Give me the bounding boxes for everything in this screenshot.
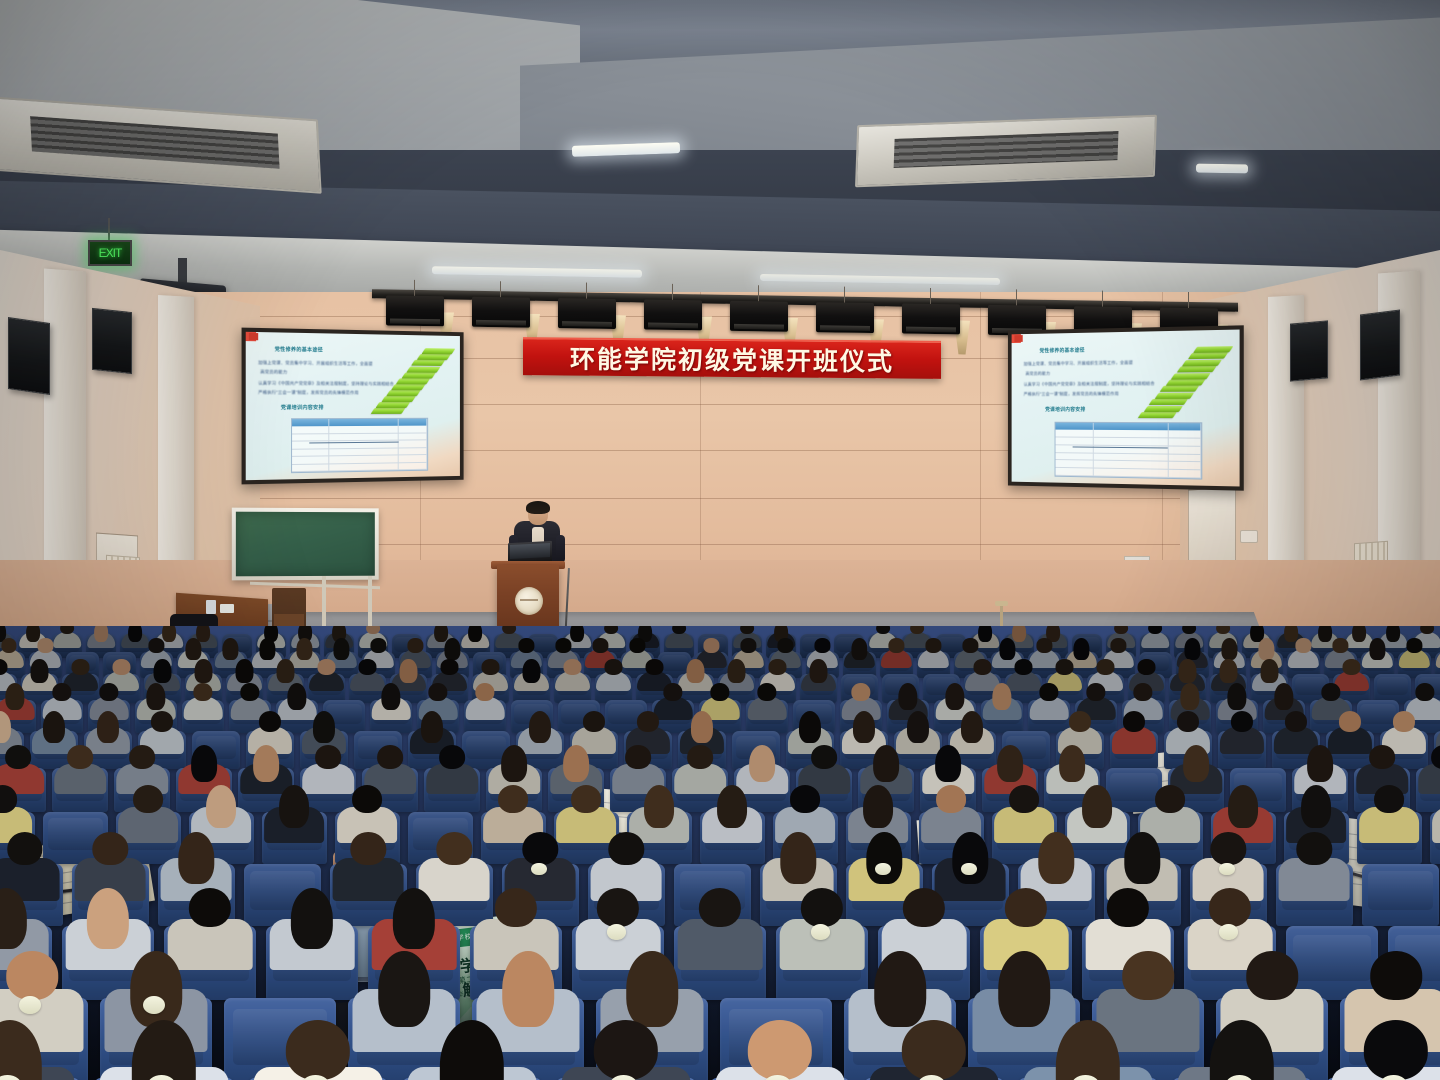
- wall-speaker-1: [8, 317, 50, 395]
- slide-content-right: 党性修养的基本途径 加强上党课、党员集中学习、开展组织生活等工作，全面提 高党员…: [1012, 330, 1240, 487]
- audience-member-head: [189, 888, 231, 928]
- audience-member: [237, 1020, 399, 1080]
- audience-member-head: [132, 1020, 196, 1080]
- audience-member-head: [873, 745, 899, 782]
- audience-member-head: [1182, 626, 1196, 634]
- slide-table: [1055, 422, 1203, 480]
- audience-member-head: [769, 659, 786, 675]
- audience-member-head: [72, 659, 89, 675]
- slide-body-line: 严格执行“三会一课”制度，发挥党员的先锋模范作用: [258, 390, 358, 396]
- hair-scrunchie: [1219, 924, 1238, 939]
- slide-body-line: 高党员的能力: [260, 369, 287, 375]
- audience-member-head: [315, 745, 341, 769]
- audience-member-head: [154, 659, 171, 683]
- audience-member-head: [605, 659, 622, 675]
- audience-member-head: [351, 832, 386, 865]
- audience-member-head: [7, 832, 42, 865]
- audience-member-head: [400, 659, 417, 683]
- audience-member: [668, 745, 733, 789]
- audience-member-head: [1114, 626, 1128, 634]
- slide-body-line: 认真学习《中国共产党党章》及相关法规制度，坚持理论与实践相结合: [1024, 381, 1155, 388]
- slide-body-line: 严格执行“三会一课”制度，发挥党员的先锋模范作用: [1024, 391, 1119, 397]
- audience-member-head: [1216, 626, 1230, 634]
- staircase-step: [1171, 373, 1210, 379]
- staircase-step: [1149, 399, 1188, 405]
- projection-screen-left: 党性修养的基本途径 加强上党课、党员集中学习、开展组织生活等工作，全面提 高党员…: [242, 328, 464, 485]
- slide-heading-2: 党课培训内容安排: [281, 404, 324, 411]
- audience-member: [1270, 832, 1359, 894]
- audience-member: [242, 711, 298, 749]
- audience-member-head: [778, 638, 793, 652]
- audience-member: [592, 659, 635, 688]
- audience-member-head: [1227, 683, 1246, 711]
- audience-member: [134, 711, 190, 749]
- audience-member-head: [852, 638, 867, 660]
- exit-icon: EXIT: [99, 247, 122, 259]
- audience-member-head: [291, 888, 333, 950]
- slide-heading-1: 党性修养的基本途径: [1040, 347, 1085, 355]
- audience-member: [890, 711, 946, 749]
- stage-light: [902, 304, 960, 335]
- audience-member-head: [334, 638, 349, 660]
- auditorium-seat[interactable]: [1362, 864, 1439, 926]
- audience-member-head: [482, 659, 499, 675]
- audience-member-head: [428, 683, 447, 701]
- audience-member-head: [1111, 638, 1126, 652]
- staircase-step: [376, 402, 411, 408]
- audience-member-head: [94, 626, 108, 642]
- stage-light: [816, 302, 874, 333]
- audience-member-head: [594, 1020, 658, 1080]
- audience-member-head: [961, 711, 983, 743]
- audience-member-head: [781, 832, 816, 884]
- audience-member-head: [907, 711, 929, 743]
- audience-member-head: [501, 745, 527, 782]
- audience-member-head: [1056, 1020, 1120, 1080]
- audience-member-head: [1123, 711, 1145, 732]
- slide-table-cell: [329, 463, 398, 472]
- audience-member: [26, 711, 82, 749]
- audience-member: [841, 785, 916, 837]
- audience-member-head: [1369, 745, 1395, 769]
- podium-crest-icon: [515, 587, 543, 615]
- audience-member: [358, 745, 423, 789]
- staircase-graphic: [1140, 338, 1240, 419]
- audience-member-head: [439, 745, 465, 769]
- audience-member-head: [52, 683, 71, 701]
- audience-member: [926, 832, 1015, 894]
- audience-member-head: [1420, 626, 1434, 634]
- audience-member-head: [963, 638, 978, 652]
- staircase-step: [1165, 379, 1204, 385]
- audience-member-head: [445, 638, 460, 660]
- audience-member-head: [287, 683, 306, 711]
- audience-member: [324, 832, 413, 894]
- lecture-hall-photo: EXIT EXIT 党性: [0, 0, 1440, 1080]
- audience-member-head: [564, 659, 581, 675]
- audience-member-head: [1039, 683, 1058, 701]
- audience-member-head: [902, 1020, 966, 1080]
- audience-member-head: [1261, 659, 1278, 683]
- audience-member-head: [811, 745, 837, 769]
- audience-member-head: [1343, 659, 1360, 675]
- audience-member-head: [1037, 638, 1052, 652]
- slide-table-cell: [398, 462, 427, 470]
- staircase-step: [1154, 392, 1193, 398]
- staircase-step: [1138, 412, 1177, 418]
- chalkboard: [232, 508, 379, 581]
- audience-member-head: [1148, 626, 1162, 634]
- staircase-step: [381, 396, 416, 402]
- audience-member: [792, 745, 857, 789]
- audience-member-head: [5, 683, 24, 711]
- staircase-step: [1187, 353, 1227, 360]
- audience-member: [944, 711, 1000, 749]
- audience-member-head: [799, 711, 821, 743]
- staircase-step: [371, 408, 406, 414]
- stage-light: [644, 299, 702, 330]
- staircase-graphic: [373, 340, 460, 414]
- audience-member-head: [1015, 659, 1032, 675]
- audience-member: [1350, 745, 1415, 789]
- audience-member-head: [60, 626, 74, 634]
- audience-member-head: [1, 638, 16, 652]
- truss-wire: [500, 281, 501, 297]
- audience-member: [404, 711, 460, 749]
- audience-member-head: [87, 888, 129, 950]
- audience-member: [83, 1020, 245, 1080]
- audience-member-head: [1321, 683, 1340, 701]
- audience-member-head: [572, 785, 602, 813]
- staircase-step: [1143, 406, 1182, 412]
- audience-member-head: [236, 659, 253, 683]
- hair-scrunchie: [531, 863, 547, 876]
- slide-flag-icon: [249, 333, 258, 340]
- audience-member: [699, 1020, 861, 1080]
- slide-table-cell: [1093, 469, 1168, 478]
- audience-member: [420, 745, 485, 789]
- staircase-step: [391, 384, 426, 390]
- audience-member: [695, 785, 770, 837]
- audience-member-head: [1133, 683, 1152, 701]
- audience-member-head: [593, 638, 608, 652]
- audience-member: [797, 659, 840, 688]
- audience-member-head: [663, 683, 682, 701]
- audience-member-head: [748, 1020, 812, 1080]
- audience-member: [606, 745, 671, 789]
- audience-member-head: [499, 785, 529, 813]
- audience-member-head: [93, 832, 128, 865]
- audience-member-head: [1285, 711, 1307, 732]
- audience-member-head: [529, 711, 551, 743]
- audience-member-head: [67, 745, 93, 769]
- truss-wire: [930, 288, 931, 304]
- audience-member-head: [1307, 745, 1333, 782]
- audience-member-head: [1005, 888, 1047, 928]
- audience-member: [1432, 638, 1440, 664]
- audience-member-head: [371, 638, 386, 652]
- audience-member-head: [186, 638, 201, 660]
- audience-member-head: [1370, 638, 1385, 660]
- stage-light: [386, 295, 444, 326]
- audience-member: [110, 745, 175, 789]
- audience-member-head: [630, 638, 645, 652]
- audience-member-head: [0, 1020, 42, 1080]
- audience-member-head: [1107, 888, 1149, 928]
- audience-member-head: [926, 638, 941, 652]
- audience-member: [545, 1020, 707, 1080]
- audience-member-head: [1179, 659, 1196, 683]
- audience-member: [1268, 711, 1324, 749]
- desk-paper: [220, 604, 234, 613]
- audience-member-head: [286, 1020, 350, 1080]
- audience-member: [391, 1020, 553, 1080]
- audience-member: [1098, 832, 1187, 894]
- audience-member-head: [801, 888, 843, 928]
- audience-member-head: [1211, 832, 1246, 865]
- audience-member-head: [1333, 638, 1348, 652]
- audience-member-head: [1056, 659, 1073, 675]
- audience-member-head: [318, 659, 335, 675]
- audience-member: [66, 832, 155, 894]
- audience-member: [674, 711, 730, 749]
- audience-member-head: [710, 683, 729, 701]
- audience-member-head: [1209, 888, 1251, 928]
- audience-member-head: [1210, 1020, 1274, 1080]
- desk-bottle: [206, 600, 216, 614]
- audience-member-head: [1375, 785, 1405, 813]
- audience-member-head: [935, 745, 961, 782]
- audience-member: [854, 745, 919, 789]
- audience-member: [296, 711, 352, 749]
- audience-member-head: [903, 888, 945, 928]
- audience-member: [184, 785, 259, 837]
- audience-member: [1376, 711, 1432, 749]
- audience-member-head: [699, 888, 741, 928]
- audience-member: [1060, 785, 1135, 837]
- staircase-step: [386, 390, 421, 396]
- audience-member-head: [381, 683, 400, 711]
- audience-member-head: [259, 711, 281, 732]
- audience-member-head: [440, 1020, 504, 1080]
- audience-member: [1288, 745, 1353, 789]
- audience-member-head: [393, 888, 435, 950]
- audience-member-head: [129, 745, 155, 769]
- slide-body-line: 加强上党课、党员集中学习、开展组织生活等工作，全面提: [258, 360, 372, 367]
- exit-sign-mount-left: [108, 218, 110, 242]
- audience-member: [620, 711, 676, 749]
- audience-member: [916, 745, 981, 789]
- wall-speaker-3: [1290, 320, 1328, 381]
- audience-member-head: [876, 626, 890, 634]
- audience-member-head: [1415, 683, 1434, 701]
- wall-outlet[interactable]: [1240, 530, 1258, 543]
- audience-member-head: [353, 785, 383, 813]
- audience-member-head: [134, 785, 164, 813]
- audience-member: [0, 1020, 91, 1080]
- audience-member-head: [1229, 785, 1259, 829]
- audience-member-head: [1086, 683, 1105, 701]
- audience-member-head: [945, 683, 964, 711]
- audience-member-head: [253, 745, 279, 782]
- audience-member: [853, 1020, 1015, 1080]
- audience-member-head: [495, 888, 537, 928]
- audience-member: [1322, 711, 1378, 749]
- audience-member-head: [502, 626, 516, 634]
- audience-member-head: [791, 785, 821, 813]
- slide-table-cell: [1168, 470, 1201, 479]
- audience-member-head: [149, 638, 164, 652]
- slide-flag-icon: [1014, 335, 1022, 342]
- audience-member: [1138, 626, 1173, 646]
- audience-member-head: [757, 683, 776, 701]
- slide-content-left: 党性修养的基本途径 加强上党课、党员集中学习、开展组织生活等工作，全面提 高党员…: [246, 332, 460, 480]
- audience-member-head: [992, 683, 1011, 711]
- audience-member: [978, 745, 1043, 789]
- staircase-step: [1160, 386, 1199, 392]
- audience-member-head: [898, 683, 917, 711]
- audience-member: [768, 785, 843, 837]
- audience-member-head: [937, 785, 967, 813]
- audience-member-head: [193, 683, 212, 701]
- speaker-arm-right: [556, 535, 565, 563]
- audience-member-head: [1185, 638, 1200, 660]
- audience-member: [836, 711, 892, 749]
- staircase-step: [1182, 360, 1222, 367]
- audience-member-head: [1297, 832, 1332, 865]
- audience-member: [1206, 785, 1281, 837]
- speaker-hair: [526, 501, 550, 514]
- audience-member-head: [38, 638, 53, 652]
- slide-table-cell: [1168, 430, 1201, 438]
- audience-member-head: [687, 659, 704, 683]
- audience-member: [330, 785, 405, 837]
- audience-member-head: [195, 659, 212, 683]
- truss-wire: [1102, 291, 1103, 307]
- audience-member: [1164, 745, 1229, 789]
- audience-member-head: [1083, 785, 1113, 829]
- slide-heading-1: 党性修养的基本途径: [275, 346, 323, 354]
- audience-member-head: [625, 745, 651, 769]
- audience-member: [754, 832, 843, 894]
- audience-member: [476, 785, 551, 837]
- audience-member: [1160, 711, 1216, 749]
- audience-member-head: [1000, 638, 1015, 660]
- audience-member-head: [366, 626, 380, 634]
- audience-member-head: [97, 711, 119, 743]
- audience-member-head: [6, 951, 58, 1000]
- truss-wire: [414, 280, 415, 296]
- audience-member-head: [672, 626, 686, 634]
- audience-member-head: [1059, 745, 1085, 782]
- audience-member: [111, 785, 186, 837]
- audience-member-head: [1183, 745, 1209, 782]
- audience-member-head: [718, 785, 748, 829]
- audience-member-body: [1433, 807, 1440, 843]
- event-banner: 环能学院初级党课开班仪式: [523, 337, 941, 379]
- staircase-step: [421, 348, 455, 354]
- audience-member-head: [1393, 711, 1415, 732]
- staircase-step: [401, 372, 435, 378]
- projector-mount-left: [178, 258, 187, 284]
- audience-member-head: [1364, 1020, 1428, 1080]
- audience-member: [1133, 785, 1208, 837]
- audience-member-head: [626, 951, 678, 1026]
- audience-member-head: [604, 626, 618, 634]
- audience-member: [410, 832, 499, 894]
- audience-member-head: [1339, 711, 1361, 732]
- audience-member: [840, 832, 929, 894]
- audience-member-head: [687, 745, 713, 769]
- truss-wire: [1188, 292, 1189, 308]
- audience-member-head: [998, 951, 1050, 1026]
- hair-scrunchie: [875, 863, 891, 876]
- hair-scrunchie: [961, 863, 977, 876]
- audience-member-head: [867, 832, 902, 884]
- audience-member-head: [874, 951, 926, 1026]
- audience-member: [512, 711, 568, 749]
- audience-member-head: [851, 683, 870, 701]
- audience-member-head: [704, 638, 719, 652]
- audience-member-head: [1246, 951, 1298, 1000]
- audience-member: [662, 626, 697, 646]
- truss-wire: [1016, 289, 1017, 305]
- audience-member: [549, 785, 624, 837]
- audience-member-head: [359, 659, 376, 675]
- audience-member: [1012, 832, 1101, 894]
- audience-member: [1352, 785, 1427, 837]
- audience-member: [496, 832, 585, 894]
- ceiling-ac-vent-right: [855, 115, 1157, 188]
- ceiling-light-2: [1196, 164, 1248, 174]
- audience-member: [461, 683, 510, 716]
- stage-light: [730, 301, 788, 332]
- audience-member: [1052, 711, 1108, 749]
- audience-member-head: [31, 659, 48, 683]
- audience-member: [482, 745, 547, 789]
- audience-member-head: [408, 638, 423, 652]
- audience-member-head: [1407, 638, 1422, 652]
- audience-member-head: [1180, 683, 1199, 711]
- stage-light: [558, 298, 616, 329]
- audience-member-head: [377, 745, 403, 769]
- audience-member-head: [910, 626, 924, 634]
- audience-member-head: [0, 711, 11, 743]
- audience-member-head: [223, 638, 238, 660]
- audience-member-head: [741, 638, 756, 652]
- slide-body-line: 加强上党课、党员集中学习、开展组织生活等工作，全面提: [1024, 360, 1133, 367]
- audience-member-head: [1302, 785, 1332, 829]
- audience-member-head: [810, 659, 827, 683]
- audience-member-head: [583, 711, 605, 732]
- audience-member-head: [1370, 951, 1422, 1000]
- audience-member-head: [437, 832, 472, 865]
- wall-speaker-2: [92, 308, 132, 374]
- audience-member: [1007, 1020, 1169, 1080]
- audience-member: [544, 745, 609, 789]
- audience-member-head: [1069, 711, 1091, 732]
- audience-member-head: [130, 951, 182, 1026]
- truss-wire: [758, 285, 759, 301]
- audience-member: [1315, 1020, 1440, 1080]
- audience-member-head: [0, 888, 27, 950]
- audience-member-head: [691, 711, 713, 743]
- audience-member-head: [502, 951, 554, 1026]
- audience-member-head: [889, 638, 904, 652]
- audience-member-head: [207, 785, 237, 829]
- wall-speaker-4: [1360, 310, 1400, 381]
- audience-member-head: [378, 951, 430, 1026]
